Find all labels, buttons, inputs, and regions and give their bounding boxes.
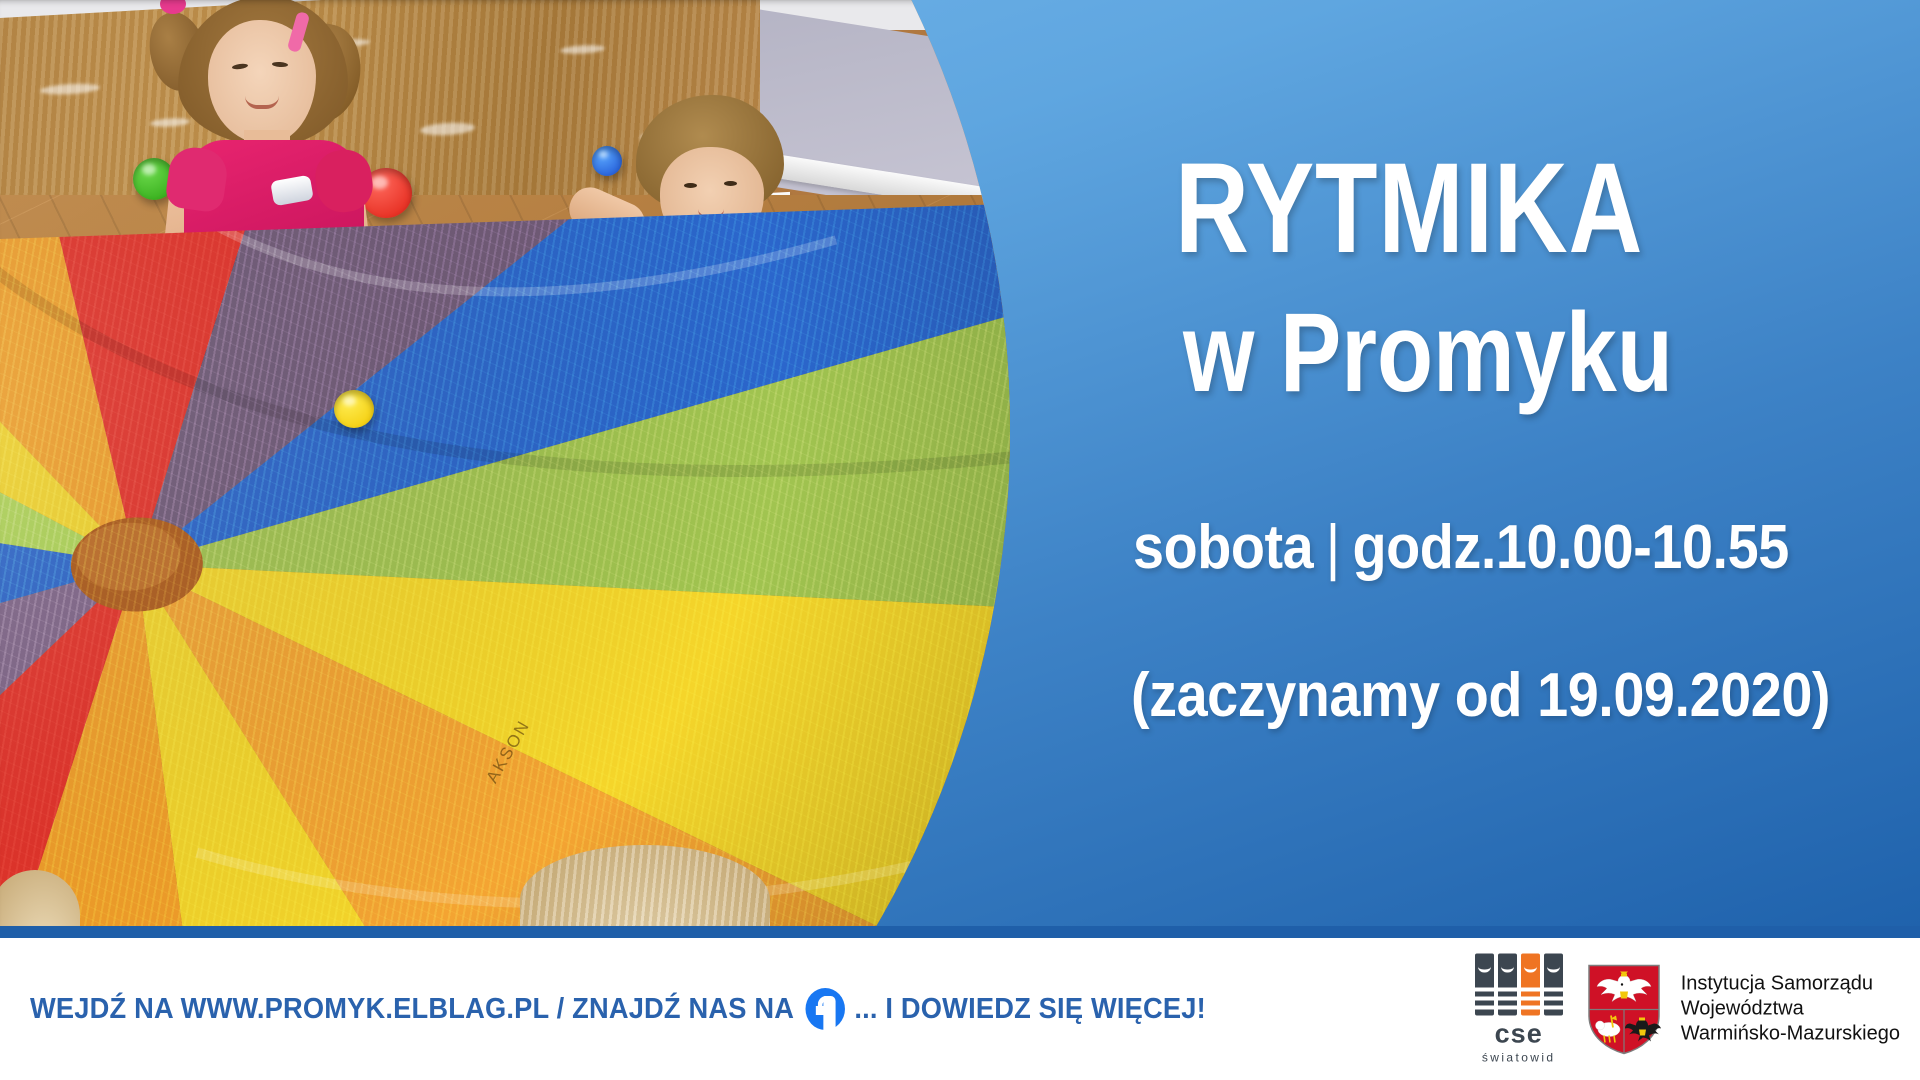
institution-line-3: Warmińsko-Mazurskiego	[1681, 1022, 1900, 1047]
facebook-icon[interactable]	[805, 988, 844, 1030]
schedule-separator: |	[1313, 513, 1352, 582]
warmia-masuria-coat-of-arms	[1587, 963, 1661, 1055]
institution-caption: Instytucja Samorządu Województwa Warmińs…	[1681, 972, 1900, 1047]
poster-canvas: AKSON RYTMIKA w Promyku sobota|godz.10.0…	[0, 0, 1920, 1080]
institution-line-2: Województwa	[1681, 997, 1900, 1022]
footer-logos: cse światowid	[1471, 954, 1900, 1065]
institution-line-1: Instytucja Samorządu	[1681, 972, 1900, 997]
footer-bar: WEJDŹ NA WWW.PROMYK.ELBLAG.PL / ZNAJDŹ N…	[0, 938, 1920, 1080]
child-blonde-head	[520, 845, 770, 933]
schedule-time: godz.10.00-10.55	[1352, 513, 1788, 582]
photo-panel: AKSON	[0, 0, 1035, 933]
cse-subtitle: światowid	[1471, 1051, 1567, 1065]
start-date-note: (zaczynamy od 19.09.2020)	[1131, 660, 1860, 731]
schedule-line: sobota|godz.10.00-10.55	[1133, 512, 1844, 583]
cse-swiatowid-logo: cse światowid	[1471, 954, 1567, 1065]
play-parachute: AKSON	[0, 199, 1035, 933]
poster-title: RYTMIKA	[1175, 150, 1751, 268]
children-parachute-photo: AKSON	[0, 0, 1035, 933]
poster-subtitle: w Promyku	[1183, 300, 1806, 406]
footer-cta: WEJDŹ NA WWW.PROMYK.ELBLAG.PL / ZNAJDŹ N…	[30, 988, 1206, 1030]
ball-blue	[592, 146, 622, 176]
footer-divider-rule	[0, 926, 1920, 938]
text-column: RYTMIKA w Promyku sobota|godz.10.00-10.5…	[1035, 0, 1920, 933]
ball-yellow	[334, 390, 374, 428]
footer-cta-prefix: WEJDŹ NA WWW.PROMYK.ELBLAG.PL / ZNAJDŹ N…	[30, 993, 794, 1026]
cse-wordmark: cse	[1471, 1021, 1567, 1048]
schedule-day: sobota	[1133, 513, 1313, 582]
footer-cta-suffix: ... I DOWIEDZ SIĘ WIĘCEJ!	[854, 993, 1206, 1026]
cse-totem-faces	[1471, 954, 1567, 1016]
